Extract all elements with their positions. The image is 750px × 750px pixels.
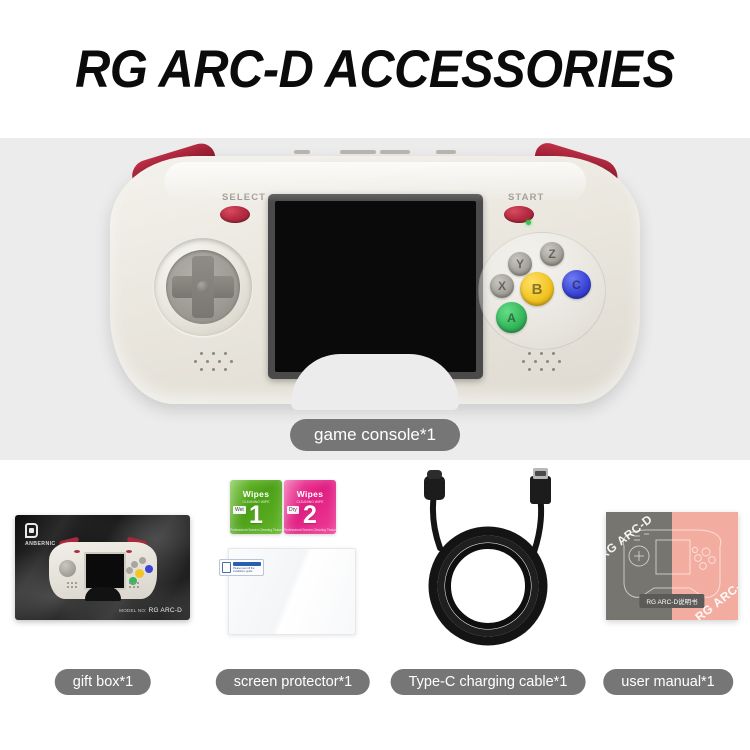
hero-panel: SELECT START Z Y <box>0 138 750 460</box>
gift-box-model-value: RG ARC-D <box>149 607 182 614</box>
select-button[interactable] <box>220 206 250 223</box>
screen-protector-caption: screen protector*1 <box>216 669 370 695</box>
speaker-hole-icon <box>546 360 549 363</box>
protector-tab-lines: Please peel off the installation guide <box>233 562 261 573</box>
wipe-2-kind: Dry <box>287 506 299 514</box>
button-z[interactable]: Z <box>540 242 564 266</box>
speaker-hole-icon <box>206 360 209 363</box>
accessory-screen-protector[interactable]: Wipes CLEANING WIPE 1 Wet Professional S… <box>198 460 388 750</box>
usb-c-connector-icon <box>424 470 445 500</box>
top-port-3-icon <box>380 150 410 154</box>
mini-speaker-hole-icon <box>129 586 131 588</box>
mini-speaker-hole-icon <box>129 582 131 584</box>
game-console-caption: game console*1 <box>290 419 460 451</box>
type-c-cable-caption: Type-C charging cable*1 <box>391 669 586 695</box>
button-y[interactable]: Y <box>508 252 532 276</box>
speaker-hole-icon <box>224 368 227 371</box>
speaker-hole-icon <box>558 360 561 363</box>
gift-box-model-text: MODEL NO: RG ARC-D <box>119 607 182 614</box>
product-accessories-page: RG ARC-D ACCESSORIES SELECT START <box>0 0 750 750</box>
protector-instruction-tab: Please peel off the installation guide <box>219 559 264 576</box>
button-a[interactable]: A <box>496 302 527 333</box>
power-led-icon <box>526 220 531 225</box>
mini-speaker-hole-icon <box>67 586 69 588</box>
wipe-2-subtitle: CLEANING WIPE <box>297 500 324 504</box>
mini-shell <box>49 542 157 599</box>
speaker-grille-left-icon <box>192 352 236 378</box>
mini-screen-icon <box>84 552 126 590</box>
anbernic-logo-mark-icon <box>25 523 38 538</box>
top-port-2-icon <box>340 150 376 154</box>
console-grip-notch <box>291 354 459 410</box>
top-port-1-icon <box>294 150 310 154</box>
speaker-hole-icon <box>194 360 197 363</box>
accessory-user-manual[interactable]: RG ARC-D RG ARC-D RG ARC-D说明书 user manua… <box>588 460 748 750</box>
top-port-4-icon <box>436 150 456 154</box>
mini-select-icon <box>74 550 80 553</box>
wipe-1-footer: Professional Screen Cleaning Tissue <box>230 528 282 532</box>
accessory-type-c-cable[interactable]: Type-C charging cable*1 <box>388 460 588 750</box>
wipe-1-kind: Wet <box>233 506 246 514</box>
mini-button-y-icon <box>131 561 138 568</box>
user-manual-image: RG ARC-D RG ARC-D RG ARC-D说明书 <box>606 512 738 620</box>
speaker-hole-icon <box>218 360 221 363</box>
user-manual-stage: RG ARC-D RG ARC-D RG ARC-D说明书 <box>588 460 748 660</box>
accessory-row: ANBERNIC <box>0 460 750 750</box>
gift-box-stage: ANBERNIC <box>8 460 198 660</box>
mini-grip-notch <box>85 587 121 601</box>
title-band: RG ARC-D ACCESSORIES <box>0 0 750 138</box>
mini-speaker-hole-icon <box>137 582 139 584</box>
speaker-hole-icon <box>522 360 525 363</box>
mini-button-x-icon <box>126 567 133 574</box>
cable-svg <box>406 468 571 653</box>
button-c[interactable]: C <box>562 270 591 299</box>
speaker-hole-icon <box>212 368 215 371</box>
mini-speaker-hole-icon <box>67 582 69 584</box>
button-b[interactable]: B <box>520 272 554 306</box>
type-c-cable-image <box>406 468 571 653</box>
cleaning-wipes: Wipes CLEANING WIPE 1 Wet Professional S… <box>230 480 336 534</box>
console-shell: SELECT START Z Y <box>110 156 640 404</box>
manual-title-label: RG ARC-D说明书 <box>639 594 704 608</box>
speaker-hole-icon <box>540 368 543 371</box>
wipe-1-subtitle: CLEANING WIPE <box>243 500 270 504</box>
mini-button-z-icon <box>139 557 146 564</box>
mini-button-a-icon <box>129 577 137 585</box>
mini-dpad-icon <box>59 560 76 577</box>
gift-box-image: ANBERNIC <box>15 515 190 620</box>
tempered-glass-protector: Please peel off the installation guide <box>228 548 356 635</box>
dpad[interactable] <box>154 238 252 336</box>
protector-tab-text: Please peel off the installation guide <box>233 567 261 573</box>
mini-button-c-icon <box>145 565 153 573</box>
dpad-center-icon <box>197 281 209 293</box>
speaker-hole-icon <box>224 352 227 355</box>
mini-start-icon <box>126 550 132 553</box>
wipe-2-footer: Professional Screen Cleaning Tissue <box>284 528 336 532</box>
protector-tab-bar <box>233 562 261 566</box>
speaker-hole-icon <box>552 368 555 371</box>
wipe-packet-wet: Wipes CLEANING WIPE 1 Wet Professional S… <box>230 480 282 534</box>
mini-speaker-hole-icon <box>137 586 139 588</box>
mini-speaker-hole-icon <box>75 582 77 584</box>
speaker-hole-icon <box>534 360 537 363</box>
select-label: SELECT <box>222 192 266 203</box>
game-console-image: SELECT START Z Y <box>92 146 658 416</box>
mini-button-b-icon <box>135 569 144 578</box>
page-title: RG ARC-D ACCESSORIES <box>75 39 674 100</box>
console-screen <box>275 201 476 372</box>
mini-speaker-hole-icon <box>75 586 77 588</box>
accessory-gift-box[interactable]: ANBERNIC <box>8 460 198 750</box>
speaker-hole-icon <box>528 368 531 371</box>
mini-speaker-hole-icon <box>133 582 135 584</box>
speaker-hole-icon <box>200 368 203 371</box>
screen-protector-stage: Wipes CLEANING WIPE 1 Wet Professional S… <box>198 460 388 660</box>
wipe-packet-dry: Wipes CLEANING WIPE 2 Dry Professional S… <box>284 480 336 534</box>
face-button-cluster: Z Y X C B A <box>470 226 620 356</box>
start-label: START <box>508 192 544 203</box>
mini-speaker-hole-icon <box>71 586 73 588</box>
dpad-inner <box>166 250 240 324</box>
gift-box-caption: gift box*1 <box>55 669 151 695</box>
gift-box-console-art <box>43 537 163 603</box>
protector-tab-icon <box>222 562 231 573</box>
speaker-hole-icon <box>200 352 203 355</box>
speaker-hole-icon <box>212 352 215 355</box>
mini-speaker-hole-icon <box>71 582 73 584</box>
gift-box-model-prefix: MODEL NO: <box>119 608 146 613</box>
cable-stage <box>388 460 588 660</box>
mini-speaker-hole-icon <box>133 586 135 588</box>
user-manual-caption: user manual*1 <box>603 669 733 695</box>
speaker-hole-icon <box>230 360 233 363</box>
button-x[interactable]: X <box>490 274 514 298</box>
console-screen-bezel <box>268 194 483 379</box>
usb-a-connector-icon <box>530 468 551 504</box>
